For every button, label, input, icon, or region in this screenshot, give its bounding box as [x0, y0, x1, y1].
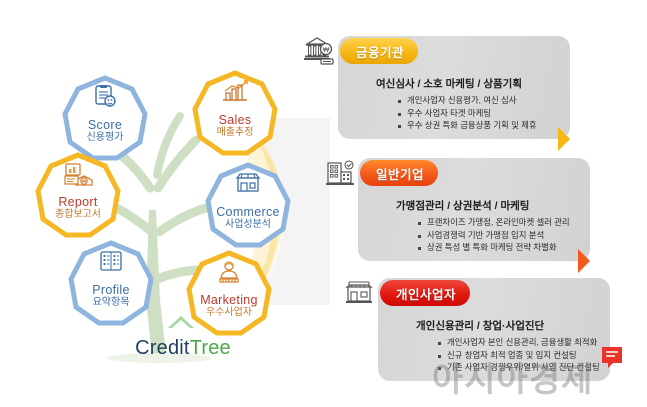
bullet-item: 사업경쟁력 기반 가맹점 입지 분석 — [418, 229, 570, 242]
card-headline: 개인신용관리 / 창업·사업진단 — [416, 318, 544, 333]
office-building-icon — [325, 160, 359, 190]
card-headline: 여신심사 / 소호 마케팅 / 상품기획 — [376, 76, 522, 91]
bar-chart-growth-icon — [192, 80, 278, 106]
page-fold-corner — [558, 127, 570, 151]
report-document-icon: ₩ — [35, 162, 121, 188]
bullet-item: 프랜차이즈 가맹점, 온라인마켓 셀러 관리 — [418, 216, 570, 229]
tree-node-commerce[interactable]: Commerce 사업성분석 — [205, 162, 291, 248]
bullet-item: 우수 상권 특화 금융상품 기획 및 제휴 — [398, 119, 537, 132]
credit-tree-logo: CreditTree — [108, 337, 258, 363]
tree-node-report[interactable]: ₩ Report 종합보고서 — [35, 152, 121, 238]
svg-text:₩: ₩ — [82, 179, 87, 185]
credit-tree-illustration: Score 신용평가 Sales 매출추정 — [0, 0, 330, 407]
clipboard-score-icon — [62, 85, 148, 111]
bullet-item: 개인사업자 본인 신용관리, 금융생활 최적화 — [438, 336, 600, 349]
storefront-icon — [205, 172, 291, 198]
tree-node-profile[interactable]: Profile 요약항목 — [68, 240, 154, 326]
bullet-item: 우수 사업자 타겟 마케팅 — [398, 107, 537, 120]
person-crown-icon — [186, 260, 272, 286]
bullet-item: 개인사업자 신용평가, 여신 심사 — [398, 94, 537, 107]
card-tag-individual-business[interactable]: 개인사업자 — [380, 280, 470, 306]
tree-node-sales[interactable]: Sales 매출추정 — [192, 70, 278, 156]
card-bullet-list: 프랜차이즈 가맹점, 온라인마켓 셀러 관리 사업경쟁력 기반 가맹점 입지 분… — [418, 216, 570, 254]
page-fold-corner — [578, 249, 590, 273]
tag-label: 일반기업 — [376, 164, 424, 183]
bullet-item: 상권 특성 별 특화 마케팅 전략 차별화 — [418, 241, 570, 254]
asiae-flag-logo-icon — [600, 345, 624, 369]
bank-building-coin-icon: ₩ — [303, 36, 337, 66]
profile-list-icon — [68, 250, 154, 276]
watermark-text: 아시아경제 — [432, 352, 617, 396]
card-bullet-list: 개인사업자 신용평가, 여신 심사 우수 사업자 타겟 마케팅 우수 상권 특화… — [398, 94, 537, 132]
shop-storefront-icon — [345, 280, 379, 310]
card-tag-financial-institution[interactable]: 금융기관 — [340, 38, 418, 64]
infographic-canvas: Score 신용평가 Sales 매출추정 — [0, 0, 647, 407]
tree-node-score[interactable]: Score 신용평가 — [62, 75, 148, 161]
tag-label: 개인사업자 — [396, 284, 456, 303]
svg-text:₩: ₩ — [323, 47, 330, 54]
card-headline: 가맹점관리 / 상권분석 / 마케팅 — [396, 198, 529, 213]
logo-text-tree: Tree — [190, 337, 231, 359]
logo-text-credit: Credit — [135, 337, 190, 359]
tree-node-marketing[interactable]: Marketing 우수사업자 — [186, 250, 272, 336]
card-tag-general-enterprise[interactable]: 일반기업 — [360, 160, 438, 186]
tag-label: 금융기관 — [356, 42, 404, 61]
